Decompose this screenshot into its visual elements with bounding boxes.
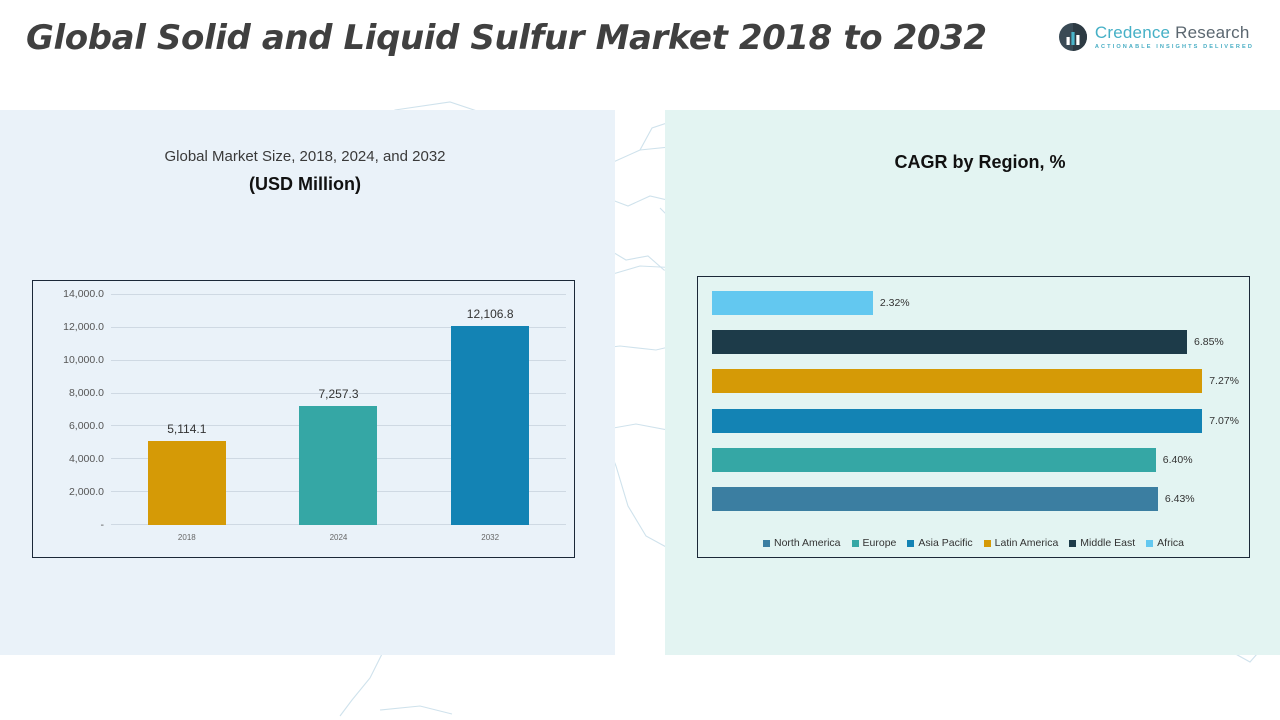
bar: 7,257.3 — [299, 406, 377, 525]
bar-row: 7.27% — [712, 369, 1239, 393]
legend-item: North America — [763, 537, 841, 549]
brand-name-credence: Credence — [1095, 23, 1170, 42]
bar — [712, 409, 1202, 433]
legend-label: Middle East — [1080, 537, 1135, 549]
x-axis-category-label: 2032 — [481, 533, 499, 542]
brand-tagline: Actionable Insights Delivered — [1095, 45, 1254, 51]
bar-row: 6.85% — [712, 330, 1239, 354]
bar-value-label: 6.40% — [1163, 454, 1193, 466]
left-bar-series: 5,114.120187,257.3202412,106.82032 — [111, 295, 566, 525]
bar — [712, 487, 1158, 511]
header-bar: Global Solid and Liquid Sulfur Market 20… — [0, 0, 1280, 88]
legend-swatch-icon — [852, 540, 859, 547]
legend-item: Latin America — [984, 537, 1059, 549]
legend-item: Middle East — [1069, 537, 1135, 549]
cagr-legend: North AmericaEuropeAsia PacificLatin Ame… — [698, 537, 1249, 549]
y-axis-tick-label: 6,000.0 — [69, 420, 104, 432]
bar — [712, 369, 1202, 393]
bar-row: 2.32% — [712, 291, 1239, 315]
brand-logo: Credence Research Actionable Insights De… — [1058, 22, 1254, 52]
bar — [712, 330, 1187, 354]
brand-name-research: Research — [1170, 23, 1249, 42]
bar-value-label: 7.27% — [1209, 375, 1239, 387]
bar-value-label: 2.32% — [880, 297, 910, 309]
bar: 5,114.1 — [148, 441, 226, 525]
legend-label: Africa — [1157, 537, 1184, 549]
y-axis-tick-label: 2,000.0 — [69, 486, 104, 498]
bar-group: 7,257.32024 — [299, 295, 377, 525]
bar-group: 12,106.82032 — [451, 295, 529, 525]
legend-label: Europe — [863, 537, 897, 549]
bar-chart-circle-icon — [1058, 22, 1088, 52]
legend-swatch-icon — [984, 540, 991, 547]
legend-swatch-icon — [1146, 540, 1153, 547]
page-title: Global Solid and Liquid Sulfur Market 20… — [26, 18, 987, 58]
bar-row: 6.43% — [712, 487, 1239, 511]
bar: 12,106.8 — [451, 326, 529, 525]
x-axis-category-label: 2018 — [178, 533, 196, 542]
legend-label: North America — [774, 537, 841, 549]
y-axis-tick-label: 10,000.0 — [63, 354, 104, 366]
y-axis-tick-label: 4,000.0 — [69, 453, 104, 465]
right-bar-series: 2.32%6.85%7.27%7.07%6.40%6.43% — [712, 291, 1239, 511]
left-caption-line2: (USD Million) — [70, 174, 540, 195]
legend-label: Asia Pacific — [918, 537, 972, 549]
bar-value-label: 7.07% — [1209, 415, 1239, 427]
bar-value-label: 5,114.1 — [167, 422, 206, 436]
x-axis-category-label: 2024 — [330, 533, 348, 542]
brand-name: Credence Research — [1095, 24, 1254, 41]
left-plot-area: -2,000.04,000.06,000.08,000.010,000.012,… — [111, 295, 566, 525]
legend-swatch-icon — [907, 540, 914, 547]
y-axis-tick-label: 12,000.0 — [63, 321, 104, 333]
legend-item: Africa — [1146, 537, 1184, 549]
legend-item: Asia Pacific — [907, 537, 972, 549]
market-size-bar-chart: -2,000.04,000.06,000.08,000.010,000.012,… — [32, 280, 575, 558]
right-caption-line1: CAGR by Region, % — [700, 152, 1260, 173]
legend-item: Europe — [852, 537, 897, 549]
right-chart-caption: CAGR by Region, % — [700, 152, 1260, 173]
cagr-by-region-bar-chart: 2.32%6.85%7.27%7.07%6.40%6.43% North Ame… — [697, 276, 1250, 558]
legend-label: Latin America — [995, 537, 1059, 549]
bar-group: 5,114.12018 — [148, 295, 226, 525]
bar-row: 7.07% — [712, 409, 1239, 433]
bar-value-label: 12,106.8 — [467, 307, 514, 321]
bar — [712, 291, 873, 315]
bar-row: 6.40% — [712, 448, 1239, 472]
left-chart-caption: Global Market Size, 2018, 2024, and 2032… — [70, 148, 540, 195]
left-caption-line1: Global Market Size, 2018, 2024, and 2032 — [70, 148, 540, 165]
legend-swatch-icon — [763, 540, 770, 547]
bar-value-label: 6.43% — [1165, 493, 1195, 505]
bar-value-label: 6.85% — [1194, 336, 1224, 348]
y-axis-tick-label: - — [101, 519, 105, 531]
y-axis-tick-label: 14,000.0 — [63, 288, 104, 300]
legend-swatch-icon — [1069, 540, 1076, 547]
y-axis-tick-label: 8,000.0 — [69, 387, 104, 399]
bar-value-label: 7,257.3 — [318, 387, 358, 401]
bar — [712, 448, 1156, 472]
infographic-canvas: Global Solid and Liquid Sulfur Market 20… — [0, 0, 1280, 720]
